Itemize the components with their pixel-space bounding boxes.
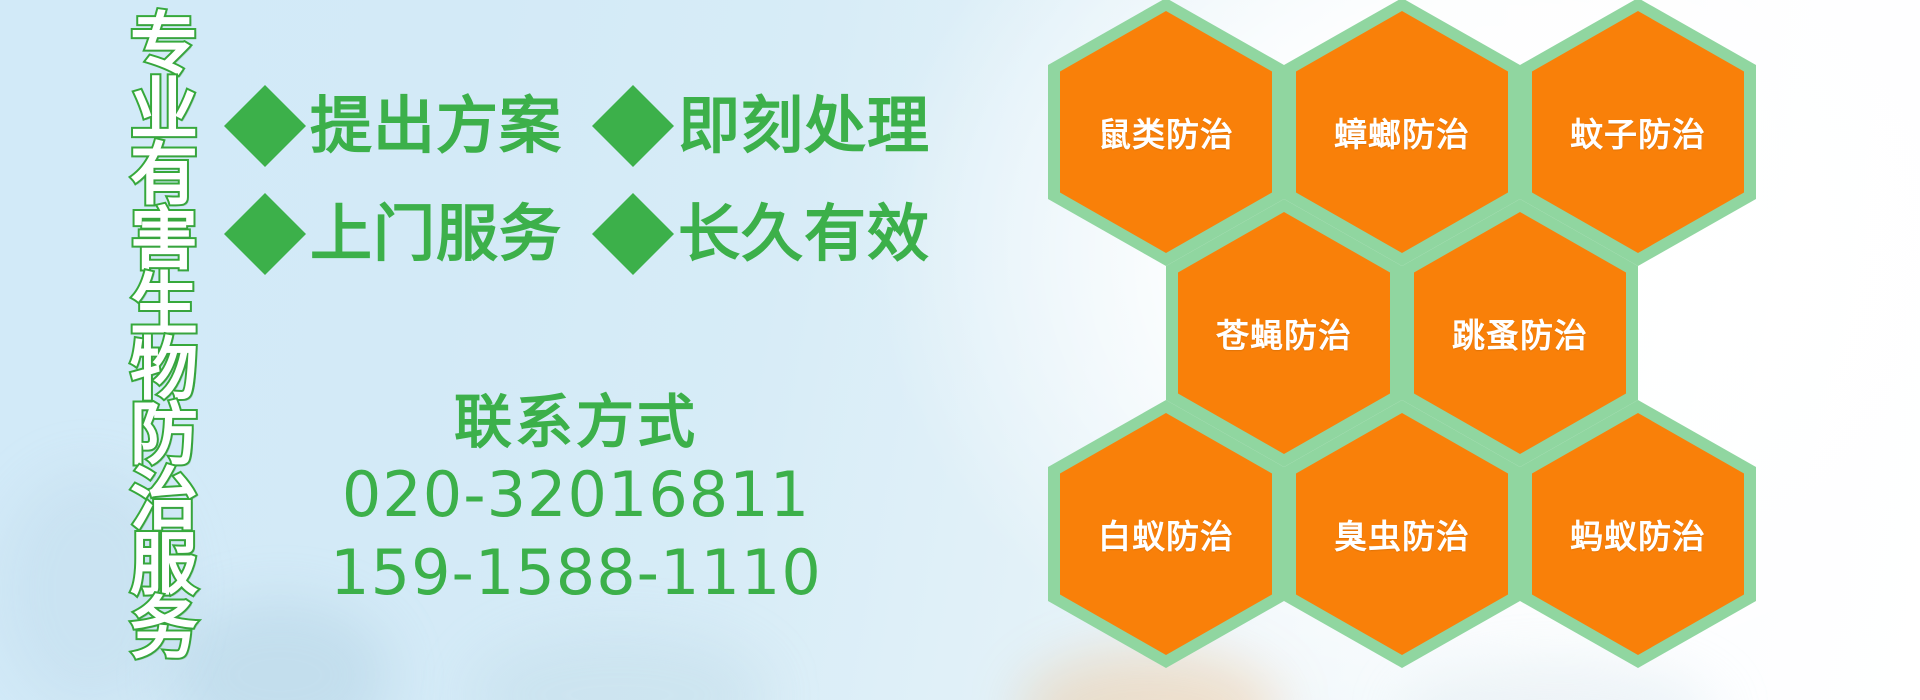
feature-label: 提出方案 [310,95,562,157]
feature-item: 即刻处理 [604,95,930,157]
vertical-headline-char: 物 [130,339,198,404]
vertical-headline-char: 有 [130,144,198,209]
diamond-icon [224,85,306,167]
hex-inner-fill: 蚊子防治 [1532,11,1744,253]
contact-phone-mobile[interactable]: 159-1588-1110 [236,534,916,612]
pest-control-banner: 专业有害生物防治服务 提出方案 即刻处理 上门服务 长久有效 联 [0,0,1920,700]
feature-row: 提出方案 即刻处理 [236,72,876,180]
contact-phone-landline[interactable]: 020-32016811 [236,456,916,534]
service-hexagon-grid: 鼠类防治 蟑螂防治 蚊子防治 苍蝇防治 跳蚤防治 白蚁防治 [1048,0,1788,700]
diamond-icon [224,193,306,275]
service-hex-label: 跳蚤防治 [1452,309,1588,357]
hex-inner-fill: 鼠类防治 [1060,11,1272,253]
feature-row: 上门服务 长久有效 [236,180,876,288]
service-hex-label: 蟑螂防治 [1334,108,1470,156]
vertical-headline-char: 害 [130,209,198,274]
feature-label: 长久有效 [678,203,930,265]
hex-inner-fill: 蚂蚁防治 [1532,413,1744,655]
hex-inner-fill: 苍蝇防治 [1178,212,1390,454]
service-hex-label: 白蚁防治 [1098,510,1234,558]
vertical-headline-char: 务 [130,598,198,663]
feature-item: 提出方案 [236,95,562,157]
vertical-headline-char: 业 [130,79,198,144]
feature-item: 上门服务 [236,203,562,265]
contact-block: 联系方式 020-32016811 159-1588-1110 [236,388,916,611]
vertical-headline: 专业有害生物防治服务 [112,14,216,686]
service-hex-label: 鼠类防治 [1098,108,1234,156]
vertical-headline-char: 治 [130,469,198,534]
background-blur-shape [470,630,770,700]
feature-list: 提出方案 即刻处理 上门服务 长久有效 [236,72,876,288]
diamond-icon [592,193,674,275]
hex-inner-fill: 臭虫防治 [1296,413,1508,655]
feature-label: 即刻处理 [678,95,930,157]
vertical-headline-char: 防 [130,404,198,469]
service-hex-label: 蚂蚁防治 [1570,510,1706,558]
vertical-headline-char: 专 [130,14,198,79]
contact-title: 联系方式 [236,388,916,456]
vertical-headline-char: 生 [130,274,198,339]
service-hex-label: 苍蝇防治 [1216,309,1352,357]
hex-inner-fill: 白蚁防治 [1060,413,1272,655]
vertical-headline-char: 服 [130,534,198,599]
hex-inner-fill: 跳蚤防治 [1414,212,1626,454]
hex-inner-fill: 蟑螂防治 [1296,11,1508,253]
feature-label: 上门服务 [310,203,562,265]
feature-item: 长久有效 [604,203,930,265]
diamond-icon [592,85,674,167]
service-hex-label: 臭虫防治 [1334,510,1470,558]
service-hex-label: 蚊子防治 [1570,108,1706,156]
